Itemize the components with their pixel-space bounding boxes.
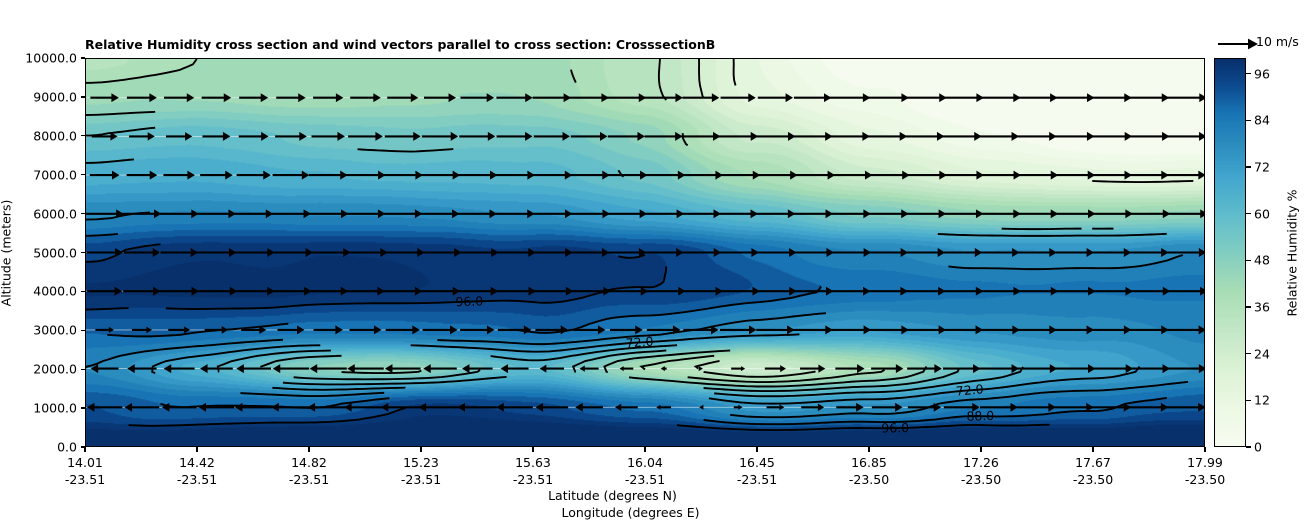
wind-vector-arrow: [644, 248, 684, 257]
wind-vector-arrow: [610, 325, 643, 334]
wind-vector-arrow: [168, 326, 190, 333]
wind-vector-arrow: [531, 209, 572, 218]
wind-vector-arrow: [346, 209, 386, 218]
wind-vector-arrow: [493, 248, 536, 257]
wind-vector-arrow: [580, 365, 599, 371]
wind-vector-arrow: [1016, 132, 1057, 141]
x-axis-label-longitude: Longitude (degrees E): [0, 504, 1225, 521]
contour-line: [240, 393, 384, 396]
colorbar-tick: [1246, 260, 1251, 261]
colorbar-tick: [1246, 353, 1251, 354]
wind-vector-arrow: [1053, 93, 1095, 102]
wind-vector-arrow: [90, 171, 120, 180]
wind-vector-arrow: [1127, 171, 1168, 180]
y-axis-tick-label: 1000.0: [33, 401, 77, 416]
colorbar: [1214, 58, 1246, 447]
wind-vector-arrow: [615, 404, 638, 411]
wind-vector-arrow: [457, 171, 497, 180]
wind-vector-arrow: [1128, 248, 1169, 257]
wind-vector-arrow: [456, 248, 499, 257]
wind-vector-arrow: [1015, 364, 1057, 373]
wind-vector-arrow: [606, 209, 648, 218]
wind-vector-arrow: [383, 209, 422, 218]
wind-vector-arrow: [661, 366, 667, 371]
y-axis-tick: [81, 330, 86, 331]
wind-vector-arrow: [619, 366, 633, 371]
colorbar-tick-label: 48: [1254, 253, 1270, 268]
wind-vector-arrow: [830, 93, 871, 102]
wind-vector-arrow: [348, 132, 383, 141]
wind-vector-arrow: [345, 171, 385, 180]
x-axis-latitude-label: 16.45: [739, 455, 775, 470]
wind-vector-arrow: [496, 403, 533, 412]
wind-vector-arrow: [867, 132, 907, 141]
wind-vector-arrow: [754, 287, 797, 296]
wind-vector-arrow: [716, 287, 760, 296]
wind-vector-arrow: [424, 93, 456, 102]
wind-vector-arrow: [205, 326, 229, 334]
wind-vector-arrow: [381, 248, 425, 257]
y-axis-tick-label: 6000.0: [33, 206, 77, 221]
wind-vector-arrow: [903, 287, 945, 296]
contour-label: 96.0: [881, 420, 909, 435]
wind-vector-arrow: [1090, 248, 1131, 257]
wind-vector-arrow: [312, 132, 345, 141]
wind-vector-arrow: [1014, 171, 1058, 180]
colorbar-tick-label: 96: [1254, 66, 1270, 81]
wind-vector-arrow: [423, 364, 457, 373]
wind-vector-arrow: [458, 209, 497, 218]
contour-line: [683, 133, 688, 145]
wind-vector-arrow: [793, 325, 833, 334]
wind-vector-arrow: [940, 287, 983, 296]
contour-line: [86, 112, 155, 115]
wind-vector-arrow: [872, 403, 903, 412]
x-axis-latitude-label: 17.67: [1075, 455, 1111, 470]
x-axis-tick: [644, 447, 645, 452]
wind-vector-arrow: [1164, 248, 1204, 257]
wind-vector-arrow: [681, 248, 722, 257]
wind-vector-arrow: [163, 171, 194, 180]
wind-vector-arrow: [721, 93, 756, 102]
x-axis-longitude-label: -23.51: [625, 472, 665, 487]
wind-vector-arrow: [493, 287, 536, 296]
wind-vector-arrow: [346, 287, 385, 296]
wind-vector-arrow: [383, 287, 422, 296]
wind-vector-arrow: [755, 132, 795, 141]
wind-vector-arrow: [383, 171, 423, 180]
y-axis-tick-label: 10000.0: [25, 51, 77, 66]
wind-vector-arrow: [569, 93, 609, 102]
wind-vector-arrow: [1127, 132, 1170, 141]
colorbar-tick-label: 84: [1254, 113, 1270, 128]
contour-line: [734, 59, 736, 85]
wind-vector-arrow: [1090, 325, 1131, 334]
wind-vector-arrow: [1090, 93, 1132, 102]
contour-line: [659, 59, 666, 100]
wind-vector-arrow: [344, 403, 387, 412]
y-axis-tick-label: 0.0: [57, 440, 77, 455]
colorbar-tick-label: 0: [1254, 440, 1262, 455]
wind-vector-arrow: [608, 132, 645, 141]
quiver-key-label: 10 m/s: [1256, 34, 1299, 49]
contour-line: [86, 59, 197, 83]
wind-vector-arrow: [1165, 171, 1204, 180]
contour-line: [86, 159, 134, 162]
wind-vector-arrow: [718, 132, 758, 141]
wind-vector-arrow: [830, 132, 870, 141]
x-axis-longitude-label: -23.50: [1073, 472, 1113, 487]
wind-vector-arrow: [758, 93, 793, 102]
wind-vector-arrow: [458, 403, 498, 412]
wind-vector-arrow: [197, 209, 236, 218]
title-line-1: Relative Humidity cross section and wind…: [85, 37, 715, 53]
wind-vector-arrow: [127, 93, 157, 102]
x-axis-latitude-label: 17.26: [963, 455, 999, 470]
x-axis-tick: [420, 447, 421, 452]
wind-vector-arrow: [160, 248, 198, 257]
x-axis-latitude-label: 15.63: [515, 455, 551, 470]
wind-vector-arrow: [643, 209, 684, 218]
wind-vector-arrow: [682, 93, 719, 102]
cross-section-plot: 72.072.088.096.096.0: [85, 58, 1205, 447]
wind-vector-arrow: [793, 132, 833, 141]
wind-vector-arrow: [160, 209, 199, 218]
y-axis-tick: [81, 174, 86, 175]
wind-vector-arrow: [200, 364, 233, 373]
contour-line: [704, 371, 816, 377]
wind-vector-arrow: [1053, 248, 1094, 257]
colorbar-tick: [1246, 213, 1251, 214]
contour-line: [294, 370, 480, 379]
wind-vector-arrow: [164, 93, 194, 102]
wind-vector-arrow: [418, 248, 461, 257]
wind-vector-arrow: [534, 132, 570, 141]
wind-vector-arrow: [237, 171, 271, 180]
wind-vector-arrow: [273, 171, 310, 180]
x-axis-latitude-label: 16.85: [851, 455, 887, 470]
wind-vector-arrow: [531, 171, 572, 180]
colorbar-tick-label: 24: [1254, 346, 1270, 361]
wind-vector-arrow: [164, 364, 195, 373]
wind-vector-arrow: [794, 93, 832, 102]
contour-line: [677, 425, 1050, 430]
x-axis-tick: [980, 447, 981, 452]
x-axis-longitude-label: -23.51: [401, 472, 441, 487]
wind-vector-arrow: [422, 132, 458, 141]
wind-vector-arrow: [196, 248, 236, 257]
wind-vector-arrow: [1053, 325, 1094, 334]
wind-vector-arrow: [347, 364, 383, 373]
colorbar-tick: [1246, 306, 1251, 307]
wind-vector-arrow: [829, 325, 871, 334]
contour-line: [641, 356, 714, 370]
colorbar-tick: [1246, 120, 1251, 121]
wind-vector-arrow: [944, 403, 980, 412]
wind-vector-arrow: [385, 132, 421, 141]
wind-vector-arrow: [233, 248, 275, 257]
wind-vector-arrow: [792, 287, 834, 296]
contour-line: [129, 408, 406, 426]
contour-line: [699, 59, 704, 98]
wind-vector-arrow: [314, 325, 343, 334]
wind-vector-arrow: [767, 404, 785, 410]
y-axis-tick-label: 2000.0: [33, 362, 77, 377]
y-axis-tick: [81, 57, 86, 58]
wind-vector-arrow: [905, 132, 945, 141]
wind-vector-arrow: [734, 405, 743, 410]
wind-vector-arrow: [903, 325, 946, 334]
wind-vector-arrow: [645, 132, 683, 141]
wind-vector-arrow: [275, 132, 307, 141]
wind-vector-arrow: [533, 93, 571, 102]
wind-vector-arrow: [273, 364, 309, 373]
wind-vector-arrow: [1015, 93, 1058, 102]
wind-vector-arrow: [531, 248, 573, 257]
wind-vector-arrow: [202, 93, 232, 102]
wind-vector-arrow: [1165, 403, 1204, 412]
y-axis-tick: [81, 96, 86, 97]
wind-vector-arrow: [977, 287, 1021, 296]
wind-vector-arrow: [866, 209, 909, 218]
y-axis-tick: [81, 369, 86, 370]
contour-line: [358, 149, 454, 152]
wind-vector-arrow: [836, 403, 863, 412]
wind-vector-arrow: [459, 132, 495, 141]
y-axis-tick: [81, 135, 86, 136]
wind-vector-arrow: [644, 93, 683, 102]
x-axis-label: Latitude (degrees N) Longitude (degrees …: [0, 487, 1225, 521]
y-axis-tick: [81, 213, 86, 214]
y-axis-tick-label: 9000.0: [33, 89, 77, 104]
wind-vector-arrow: [573, 325, 606, 334]
y-axis-label: Altitude (meters): [0, 200, 14, 307]
contour-line: [86, 340, 283, 368]
colorbar-label: Relative Humidity %: [1285, 190, 1300, 317]
contour-line: [272, 388, 405, 390]
wind-vector-arrow: [977, 209, 1021, 218]
colorbar-tick-label: 12: [1254, 393, 1270, 408]
wind-vector-arrow: [159, 287, 199, 296]
x-axis-longitude-label: -23.51: [289, 472, 329, 487]
contour-line: [411, 334, 800, 351]
wind-vector-arrow: [1164, 364, 1204, 373]
colorbar-tick: [1246, 73, 1251, 74]
wind-vector-arrow: [1052, 171, 1095, 180]
wind-vector-arrow: [132, 327, 152, 334]
wind-vector-arrow: [904, 248, 945, 257]
wind-vector-arrow: [801, 404, 824, 412]
wind-vector-arrow: [569, 248, 610, 257]
wind-vector-arrow: [718, 209, 758, 218]
wind-vector-arrow: [420, 287, 460, 296]
wind-vector-arrow: [420, 171, 460, 180]
x-axis-latitude-label: 14.42: [179, 455, 215, 470]
x-axis-tick: [1092, 447, 1093, 452]
wind-vector-arrow: [1090, 171, 1132, 180]
wind-vector-arrow: [907, 364, 942, 373]
wind-vector-arrow: [460, 93, 494, 102]
x-axis-tick: [308, 447, 309, 452]
y-axis-tick-label: 4000.0: [33, 284, 77, 299]
wind-vector-arrow: [387, 93, 418, 102]
wind-vector-arrow: [1016, 325, 1057, 334]
humidity-field: 72.072.088.096.096.0: [86, 59, 1204, 446]
contour-line: [517, 287, 821, 333]
wind-vector-arrow: [699, 366, 703, 371]
wind-vector-arrow: [979, 132, 1019, 141]
wind-vector-arrow: [87, 248, 123, 257]
colorbar-tick-label: 72: [1254, 159, 1270, 174]
wind-vector-arrow: [1163, 287, 1204, 296]
wind-vector-arrow: [1163, 209, 1204, 218]
colorbar-tick: [1246, 400, 1251, 401]
wind-vector-arrow: [1128, 403, 1169, 412]
contour-label: 72.0: [955, 381, 984, 398]
wind-vector-arrow: [381, 403, 425, 412]
wind-vector-arrow: [829, 248, 871, 257]
wind-vector-arrow: [941, 248, 982, 257]
wind-vector-arrow: [536, 403, 569, 412]
wind-vector-arrow: [1090, 132, 1133, 141]
contour-line: [86, 234, 118, 236]
wind-vector-arrow: [386, 325, 420, 334]
wind-vector-arrow: [234, 209, 273, 218]
colorbar-tick-label: 60: [1254, 206, 1270, 221]
x-axis-longitude-label: -23.50: [1185, 472, 1225, 487]
wind-vector-arrow: [86, 209, 124, 218]
wind-vector-arrow: [829, 209, 871, 218]
wind-vector-arrow: [720, 325, 757, 334]
colorbar-gradient: [1215, 59, 1245, 446]
x-axis-longitude-label: -23.50: [849, 472, 889, 487]
contour-line: [948, 255, 1182, 269]
x-axis-tick: [1204, 447, 1205, 452]
wind-vector-arrow: [308, 287, 348, 296]
wind-vector-arrow: [350, 93, 381, 102]
wind-vector-arrow: [501, 364, 529, 373]
wind-vector-arrow: [497, 132, 533, 141]
wind-vector-arrow: [1127, 325, 1168, 334]
x-axis-tick: [196, 447, 197, 452]
wind-vector-arrow: [271, 403, 310, 412]
colorbar-tick: [1246, 166, 1251, 167]
wind-vector-arrow: [765, 365, 786, 372]
wind-vector-arrow: [239, 93, 268, 102]
y-axis-tick: [81, 407, 86, 408]
wind-vector-arrow: [271, 209, 311, 218]
x-axis-tick: [756, 447, 757, 452]
wind-vector-arrow: [196, 287, 238, 296]
wind-vector-arrow: [978, 248, 1019, 257]
wind-vector-arrow: [867, 287, 908, 296]
wind-vector-arrow: [1016, 248, 1057, 257]
wind-vector-arrow: [642, 171, 685, 180]
wind-vector-arrow: [90, 93, 118, 102]
x-axis-longitude-label: -23.51: [737, 472, 777, 487]
wind-vector-arrow: [656, 405, 671, 410]
wind-vector-arrow: [460, 325, 494, 334]
wind-vector-arrow: [540, 365, 564, 373]
wind-vector-arrow: [1127, 93, 1169, 102]
x-axis-longitude-label: -23.50: [961, 472, 1001, 487]
x-axis-longitude-label: -23.51: [513, 472, 553, 487]
contour-line: [571, 70, 576, 83]
wind-vector-arrow: [95, 327, 114, 333]
wind-vector-arrow: [200, 171, 233, 180]
wind-vector-arrow: [754, 248, 796, 257]
contour-line: [86, 128, 155, 136]
wind-vector-arrow: [530, 287, 573, 296]
contour-line: [704, 398, 1167, 424]
wind-vector-arrow: [235, 403, 272, 412]
x-axis-latitude-label: 16.04: [627, 455, 663, 470]
wind-vector-arrow: [605, 171, 647, 180]
wind-vector-arrow: [792, 209, 833, 218]
contour-line: [86, 308, 129, 309]
wind-vector-arrow: [127, 171, 158, 180]
contour-line: [938, 234, 1167, 236]
wind-vector-arrow: [977, 93, 1020, 102]
wind-vector-arrow: [313, 93, 343, 102]
wind-vector-arrow: [942, 132, 982, 141]
colorbar-tick-label: 36: [1254, 299, 1270, 314]
x-axis-longitude-label: -23.51: [177, 472, 217, 487]
wind-vector-arrow: [683, 325, 718, 334]
wind-vector-arrow: [309, 171, 348, 180]
wind-vector-arrow: [199, 403, 235, 412]
wind-vector-arrow: [903, 209, 946, 218]
wind-vector-arrow: [129, 132, 155, 140]
wind-vector-arrow: [276, 93, 305, 102]
wind-vector-arrow: [829, 287, 870, 296]
wind-vector-arrow: [278, 325, 305, 334]
wind-vector-arrow: [866, 325, 909, 334]
wind-vector-arrow: [681, 132, 720, 141]
wind-vector-arrow: [1164, 132, 1204, 141]
wind-vector-arrow: [756, 209, 796, 218]
y-axis-tick: [81, 252, 86, 253]
wind-vector-arrow: [1017, 403, 1056, 412]
x-axis-latitude-label: 15.23: [403, 455, 439, 470]
x-axis-longitude-label: -23.51: [65, 472, 105, 487]
x-axis-tick: [868, 447, 869, 452]
wind-vector-arrow: [1164, 93, 1204, 102]
wind-vector-arrow: [575, 403, 603, 412]
wind-vector-arrow: [494, 171, 535, 180]
wind-vector-arrow: [756, 325, 794, 334]
contour-line: [1092, 181, 1193, 182]
wind-vector-arrow: [835, 364, 864, 373]
wind-vector-arrow: [350, 325, 382, 334]
wind-vector-arrow: [943, 364, 980, 373]
wind-vector-arrow: [1053, 132, 1095, 141]
wind-vector-arrow: [978, 325, 1020, 334]
wind-vector-arrow: [699, 405, 703, 410]
wind-vector-arrow: [87, 287, 122, 296]
x-axis-latitude-label: 17.99: [1187, 455, 1223, 470]
x-axis-tick: [84, 447, 85, 452]
wind-vector-arrow: [166, 132, 192, 141]
wind-vector-arrow: [568, 171, 609, 180]
x-axis-label-latitude: Latitude (degrees N): [0, 487, 1225, 504]
y-axis-tick-label: 7000.0: [33, 167, 77, 182]
y-axis-tick: [81, 291, 86, 292]
wind-vector-arrow: [419, 403, 462, 412]
y-axis-tick-label: 3000.0: [33, 323, 77, 338]
wind-vector-arrow: [791, 248, 834, 257]
wind-vector-arrow: [310, 364, 347, 373]
